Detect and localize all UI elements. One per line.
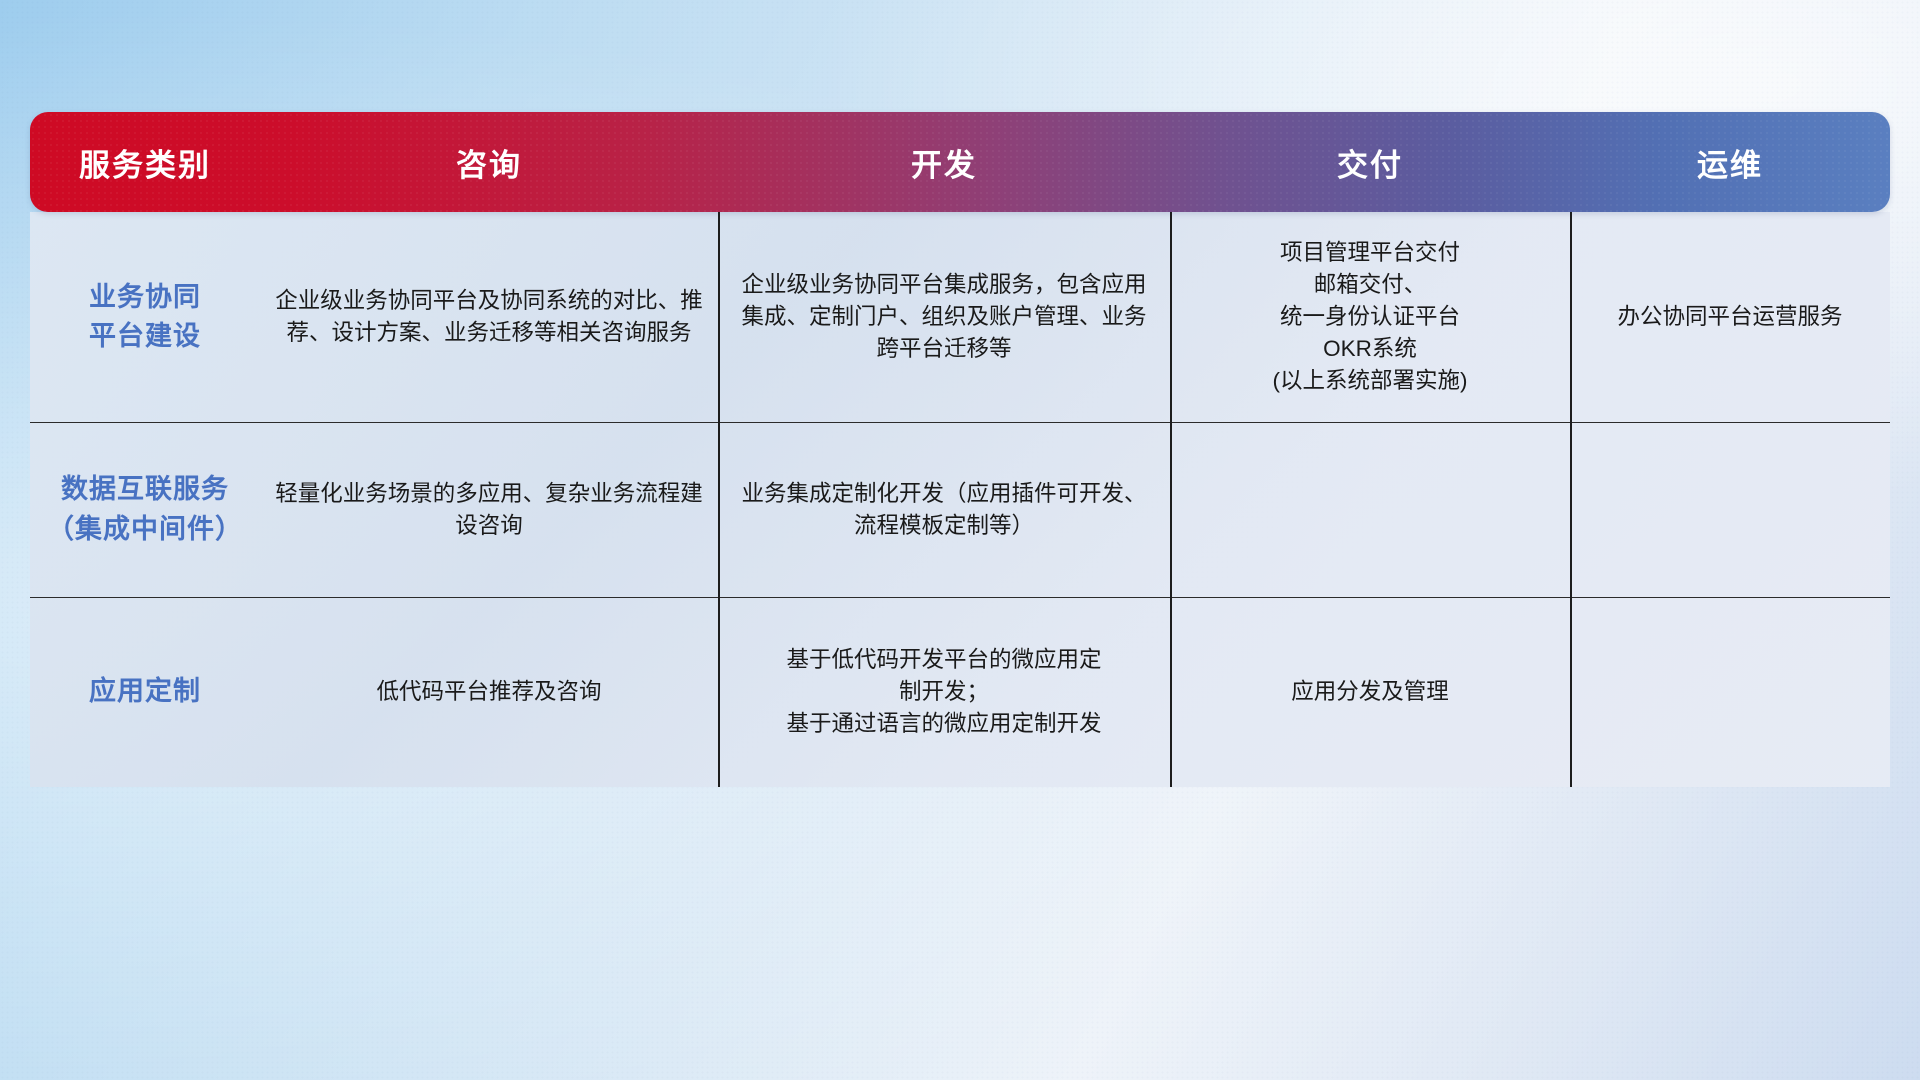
row-category-cell: 数据互联服务 （集成中间件） (30, 422, 260, 597)
table-row: 业务协同 平台建设 企业级业务协同平台及协同系统的对比、推荐、设计方案、业务迁移… (30, 212, 1890, 422)
cell-development-line: 基于通过语言的微应用定制开发 (786, 708, 1101, 740)
row-category-cell: 业务协同 平台建设 (30, 212, 260, 422)
row-category-line: 业务协同 (89, 278, 201, 317)
cell-operations (1570, 597, 1890, 787)
cell-delivery-line: OKR系统 (1273, 333, 1468, 365)
table-row: 数据互联服务 （集成中间件） 轻量化业务场景的多应用、复杂业务流程建设咨询 业务… (30, 422, 1890, 597)
cell-consulting: 企业级业务协同平台及协同系统的对比、推荐、设计方案、业务迁移等相关咨询服务 (260, 212, 718, 422)
row-category-line: 数据互联服务 (47, 470, 243, 509)
cell-delivery-line: 邮箱交付、 (1273, 269, 1468, 301)
table-header-row: 服务类别 咨询 开发 交付 运维 (30, 112, 1890, 212)
table-body: 业务协同 平台建设 企业级业务协同平台及协同系统的对比、推荐、设计方案、业务迁移… (30, 212, 1890, 787)
cell-delivery-line: (以上系统部署实施) (1273, 365, 1468, 397)
column-header-delivery: 交付 (1170, 112, 1570, 212)
service-matrix-table: 服务类别 咨询 开发 交付 运维 业务协同 平台建设 企业级业务协同平台及协同系… (30, 112, 1890, 787)
cell-delivery (1170, 422, 1570, 597)
cell-development-line: 制开发； (786, 676, 1101, 708)
cell-development: 业务集成定制化开发（应用插件可开发、流程模板定制等） (718, 422, 1170, 597)
cell-operations: 办公协同平台运营服务 (1570, 212, 1890, 422)
row-category-line: （集成中间件） (47, 510, 243, 549)
cell-delivery-line: 统一身份认证平台 (1273, 301, 1468, 333)
column-header-operations: 运维 (1570, 112, 1890, 212)
row-category-line: 应用定制 (89, 672, 201, 711)
cell-delivery-line: 项目管理平台交付 (1273, 237, 1468, 269)
cell-operations (1570, 422, 1890, 597)
cell-development-line: 基于低代码开发平台的微应用定 (786, 644, 1101, 676)
column-header-consulting: 咨询 (260, 112, 718, 212)
table-row: 应用定制 低代码平台推荐及咨询 基于低代码开发平台的微应用定 制开发； 基于通过… (30, 597, 1890, 787)
row-category-cell: 应用定制 (30, 597, 260, 787)
row-category-line: 平台建设 (89, 317, 201, 356)
cell-delivery: 项目管理平台交付 邮箱交付、 统一身份认证平台 OKR系统 (以上系统部署实施) (1170, 212, 1570, 422)
cell-consulting: 轻量化业务场景的多应用、复杂业务流程建设咨询 (260, 422, 718, 597)
cell-consulting: 低代码平台推荐及咨询 (260, 597, 718, 787)
column-header-development: 开发 (718, 112, 1170, 212)
column-header-service-category: 服务类别 (30, 112, 260, 212)
cell-development: 基于低代码开发平台的微应用定 制开发； 基于通过语言的微应用定制开发 (718, 597, 1170, 787)
cell-development: 企业级业务协同平台集成服务，包含应用集成、定制门户、组织及账户管理、业务跨平台迁… (718, 212, 1170, 422)
cell-delivery: 应用分发及管理 (1170, 597, 1570, 787)
